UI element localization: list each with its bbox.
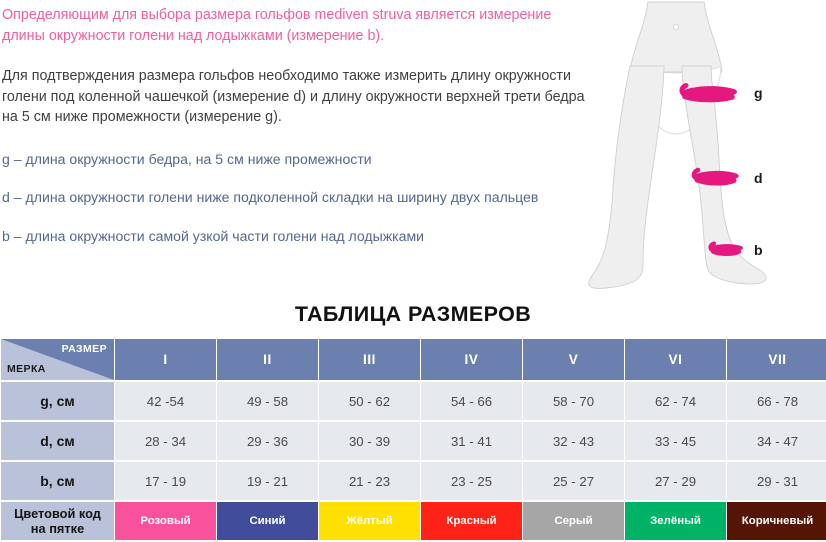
color-cell-7: Коричневый (727, 502, 826, 540)
cell-d-7: 34 - 47 (727, 422, 826, 460)
legend-item-b: b – длина окружности самой узкой части г… (2, 227, 586, 247)
cell-d-1: 28 - 34 (115, 422, 216, 460)
cell-g-2: 49 - 58 (217, 382, 318, 420)
color-cell-4: Красный (421, 502, 522, 540)
legend-item-g: g – длина окружности бедра, на 5 см ниже… (2, 150, 586, 170)
corner-size-label: РАЗМЕР (62, 343, 107, 355)
body-silhouette-icon (589, 2, 766, 288)
highlight-paragraph: Определяющим для выбора размера гольфов … (2, 5, 586, 46)
cell-g-5: 58 - 70 (523, 382, 624, 420)
color-code-label: Цветовой код на пятке (1, 502, 114, 540)
measurement-band-b-icon (710, 244, 742, 254)
diagram-label-b: b (754, 242, 763, 258)
table-row: d, см 28 - 34 29 - 36 30 - 39 31 - 41 32… (1, 422, 826, 460)
cell-b-3: 21 - 23 (319, 462, 420, 500)
cell-g-1: 42 -54 (115, 382, 216, 420)
row-label-b: b, см (1, 462, 114, 500)
cell-g-4: 54 - 66 (421, 382, 522, 420)
size-header-4: IV (421, 339, 522, 380)
row-label-g: g, см (1, 382, 114, 420)
size-header-6: VI (625, 339, 726, 380)
cell-b-2: 19 - 21 (217, 462, 318, 500)
table-header-row: РАЗМЕР МЕРКА I II III IV V VI VII (1, 339, 826, 380)
intro-section: Определяющим для выбора размера гольфов … (0, 0, 826, 297)
color-cell-5: Серый (523, 502, 624, 540)
cell-d-5: 32 - 43 (523, 422, 624, 460)
cell-g-6: 62 - 74 (625, 382, 726, 420)
size-header-5: V (523, 339, 624, 380)
intro-text-column: Определяющим для выбора размера гольфов … (0, 0, 590, 246)
color-cell-3: Жёлтый (319, 502, 420, 540)
legend-item-d: d – длина окружности голени ниже подколе… (2, 188, 586, 208)
table-row: b, см 17 - 19 19 - 21 21 - 23 23 - 25 25… (1, 462, 826, 500)
color-cell-1: Розовый (115, 502, 216, 540)
corner-measure-label: МЕРКА (7, 363, 46, 375)
color-code-label-line1: Цветовой код (14, 506, 101, 521)
cell-d-4: 31 - 41 (421, 422, 522, 460)
row-label-d: d, см (1, 422, 114, 460)
measurement-diagram: g d b (586, 0, 826, 295)
size-header-3: III (319, 339, 420, 380)
color-cell-6: Зелёный (625, 502, 726, 540)
size-table: РАЗМЕР МЕРКА I II III IV V VI VII g, см … (0, 337, 826, 542)
color-code-row: Цветовой код на пятке Розовый Синий Жёлт… (1, 502, 826, 540)
diagram-label-g: g (754, 85, 763, 101)
size-header-1: I (115, 339, 216, 380)
cell-d-2: 29 - 36 (217, 422, 318, 460)
body-paragraph: Для подтверждения размера гольфов необхо… (2, 66, 586, 128)
cell-b-7: 29 - 31 (727, 462, 826, 500)
cell-b-4: 23 - 25 (421, 462, 522, 500)
table-row: g, см 42 -54 49 - 58 50 - 62 54 - 66 58 … (1, 382, 826, 420)
size-header-2: II (217, 339, 318, 380)
size-header-7: VII (727, 339, 826, 380)
corner-header-cell: РАЗМЕР МЕРКА (1, 339, 114, 380)
page-title: ТАБЛИЦА РАЗМЕРОВ (0, 302, 826, 327)
cell-d-3: 30 - 39 (319, 422, 420, 460)
cell-b-6: 27 - 29 (625, 462, 726, 500)
color-code-label-line2: на пятке (31, 521, 84, 536)
cell-b-5: 25 - 27 (523, 462, 624, 500)
cell-g-3: 50 - 62 (319, 382, 420, 420)
cell-b-1: 17 - 19 (115, 462, 216, 500)
diagram-label-d: d (754, 170, 763, 186)
cell-g-7: 66 - 78 (727, 382, 826, 420)
color-cell-2: Синий (217, 502, 318, 540)
cell-d-6: 33 - 45 (625, 422, 726, 460)
